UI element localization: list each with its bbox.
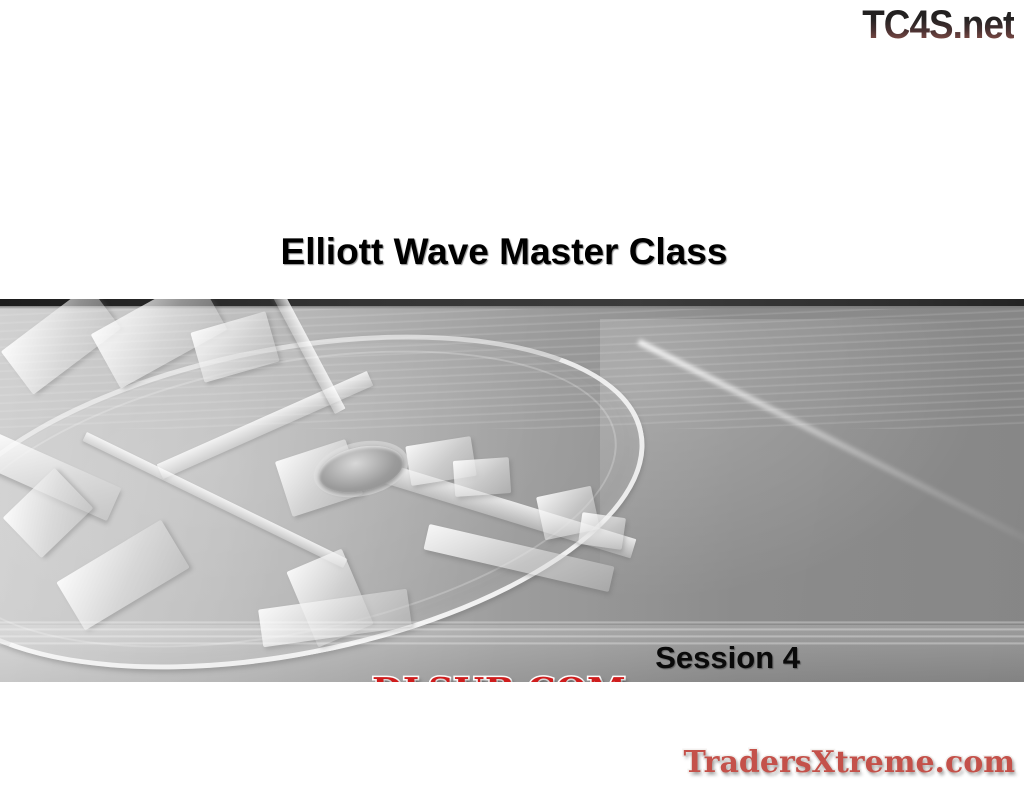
page-title: Elliott Wave Master Class <box>0 228 1024 276</box>
tradersxtreme-logo: TradersXtreme.com <box>684 744 1015 782</box>
block-10 <box>578 512 626 550</box>
dlsub-watermark: DLSUB.COM <box>372 671 626 682</box>
abstract-ring-artwork <box>0 299 1024 682</box>
light-streaks-top <box>0 309 1024 429</box>
presentation-slide: TC4S.net Elliott Wave Master Class <box>0 0 1024 791</box>
background-image-band: Session 4 DLSUB.COM David Starr <box>0 299 1024 682</box>
tc4s-logo: TC4S.net <box>862 2 1014 48</box>
block-8 <box>453 457 511 497</box>
